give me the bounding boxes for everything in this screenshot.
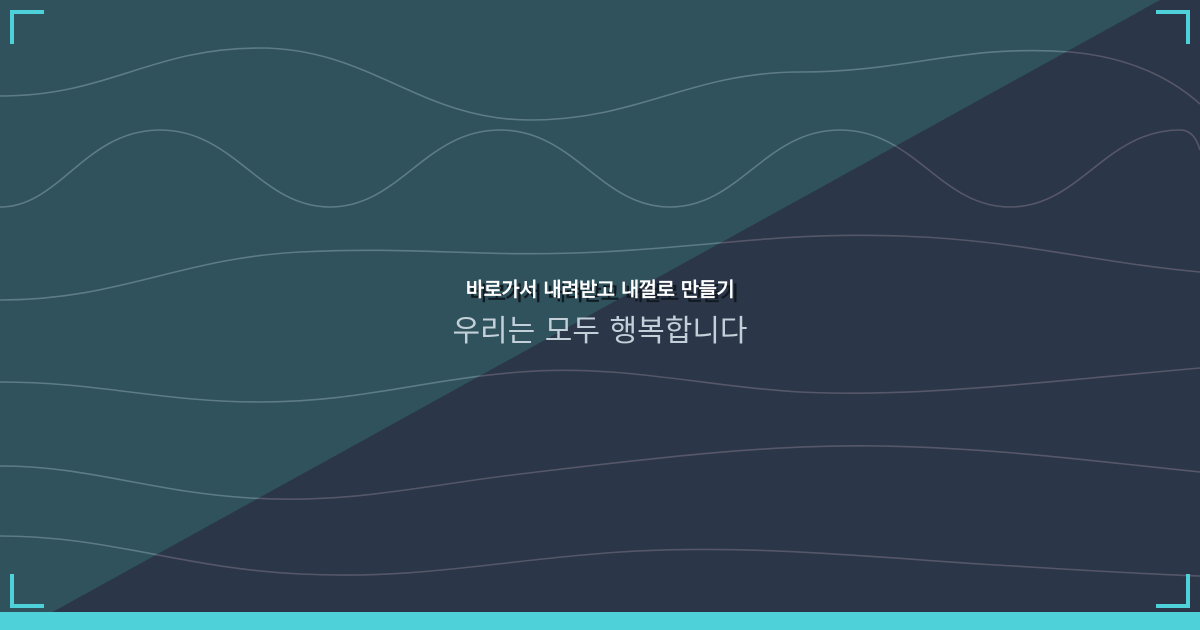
banner-canvas: 바로가서 내려받고 내껄로 만들기 우리는 모두 행복합니다 (0, 0, 1200, 630)
corner-bracket-bottom-left-icon (10, 574, 44, 608)
bottom-accent-bar (0, 612, 1200, 630)
corner-bracket-bottom-right-icon (1156, 574, 1190, 608)
page-title: 바로가서 내려받고 내껄로 만들기 (0, 280, 1200, 301)
page-subtitle: 우리는 모두 행복합니다 (452, 314, 747, 350)
text-content-group: 바로가서 내려받고 내껄로 만들기 우리는 모두 행복합니다 (0, 0, 1200, 630)
corner-bracket-top-left-icon (10, 10, 44, 44)
corner-bracket-top-right-icon (1156, 10, 1190, 44)
